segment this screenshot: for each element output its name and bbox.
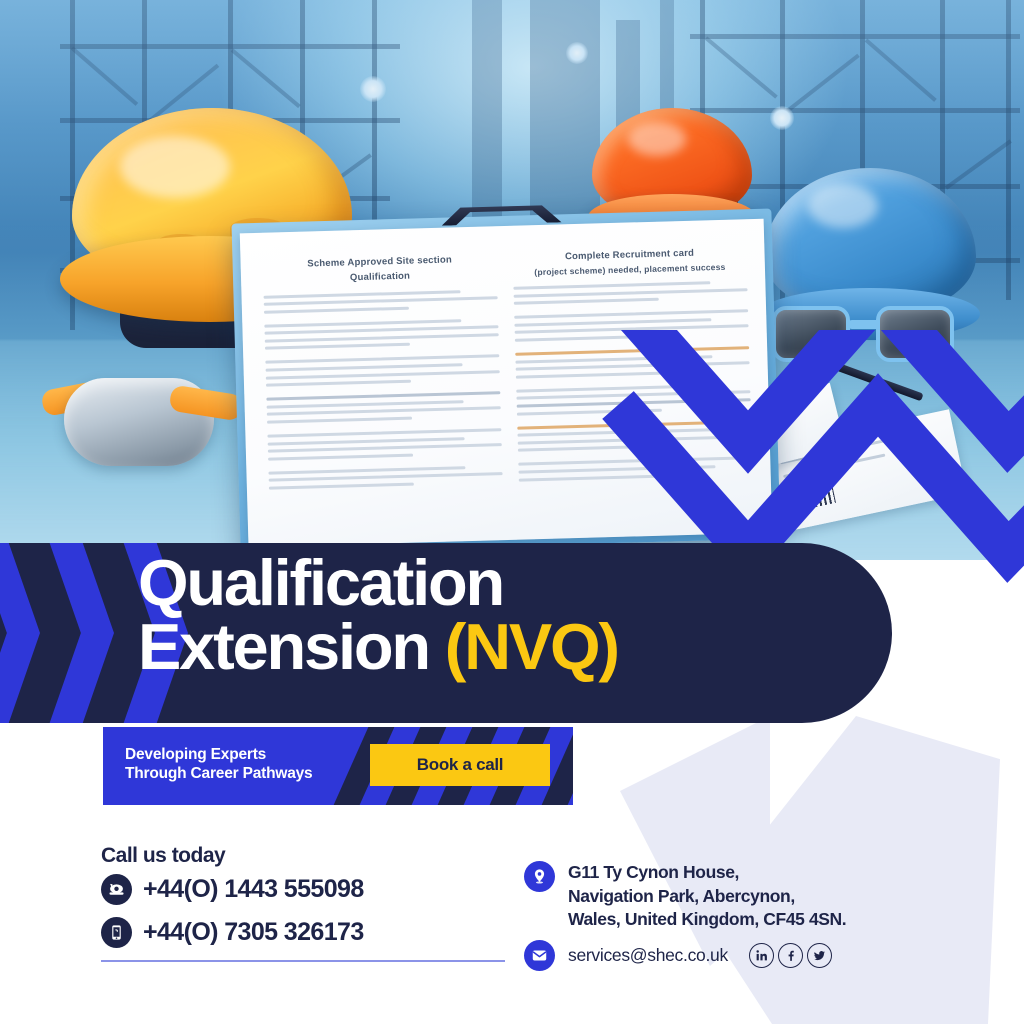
headline-line-2: Extension (NVQ): [138, 615, 878, 679]
book-a-call-button[interactable]: Book a call: [370, 744, 550, 786]
chevron-arrow-2: [42, 543, 114, 723]
call-us-today-heading: Call us today: [101, 844, 225, 868]
safety-goggles: [42, 368, 242, 476]
address-text: G11 Ty Cynon House, Navigation Park, Abe…: [568, 861, 846, 932]
promotional-poster: Scheme Approved Site section Qualificati…: [0, 0, 1024, 1024]
page-title: Qualification Extension (NVQ): [138, 551, 878, 680]
headline-band: Qualification Extension (NVQ): [0, 543, 892, 723]
document-column-right: Complete Recruitment card (project schem…: [512, 245, 752, 486]
tagline-line-2: Through Career Pathways: [125, 764, 312, 783]
hero-photo: Scheme Approved Site section Qualificati…: [0, 0, 1024, 560]
contact-divider: [101, 960, 505, 962]
phone-mobile-row[interactable]: +44(O) 7305 326173: [101, 917, 364, 948]
location-pin-icon: [524, 861, 555, 892]
phone-landline-row[interactable]: +44(O) 1443 555098: [101, 874, 364, 905]
document-column-left: Scheme Approved Site section Qualificati…: [262, 252, 502, 494]
headline-line-1: Qualification: [138, 551, 878, 615]
clipboard-document: Scheme Approved Site section Qualificati…: [231, 209, 780, 554]
linkedin-icon[interactable]: [749, 943, 774, 968]
chevron-arrow-1: [0, 543, 40, 723]
mobile-phone-icon: [101, 917, 132, 948]
phone-mobile-number: +44(O) 7305 326173: [143, 918, 364, 947]
envelope-icon: [524, 940, 555, 971]
social-links: [749, 943, 832, 968]
facebook-icon[interactable]: [778, 943, 803, 968]
headline-line-2-main: Extension: [138, 610, 445, 683]
address-line-1: G11 Ty Cynon House,: [568, 861, 846, 885]
headline-accent-nvq: (NVQ): [445, 610, 618, 683]
contact-section: Call us today +44(O) 1443 555098: [0, 840, 1024, 1024]
safety-glasses: [772, 300, 970, 370]
email-address: services@shec.co.uk: [568, 945, 728, 966]
email-row[interactable]: services@shec.co.uk: [524, 940, 832, 971]
tagline-text: Developing Experts Through Career Pathwa…: [125, 745, 312, 784]
telephone-icon: [101, 874, 132, 905]
twitter-icon[interactable]: [807, 943, 832, 968]
address-line-3: Wales, United Kingdom, CF45 4SN.: [568, 908, 846, 932]
address-line-2: Navigation Park, Abercynon,: [568, 885, 846, 909]
tagline-line-1: Developing Experts: [125, 745, 312, 764]
phone-landline-number: +44(O) 1443 555098: [143, 875, 364, 904]
address-row: G11 Ty Cynon House, Navigation Park, Abe…: [524, 861, 846, 932]
